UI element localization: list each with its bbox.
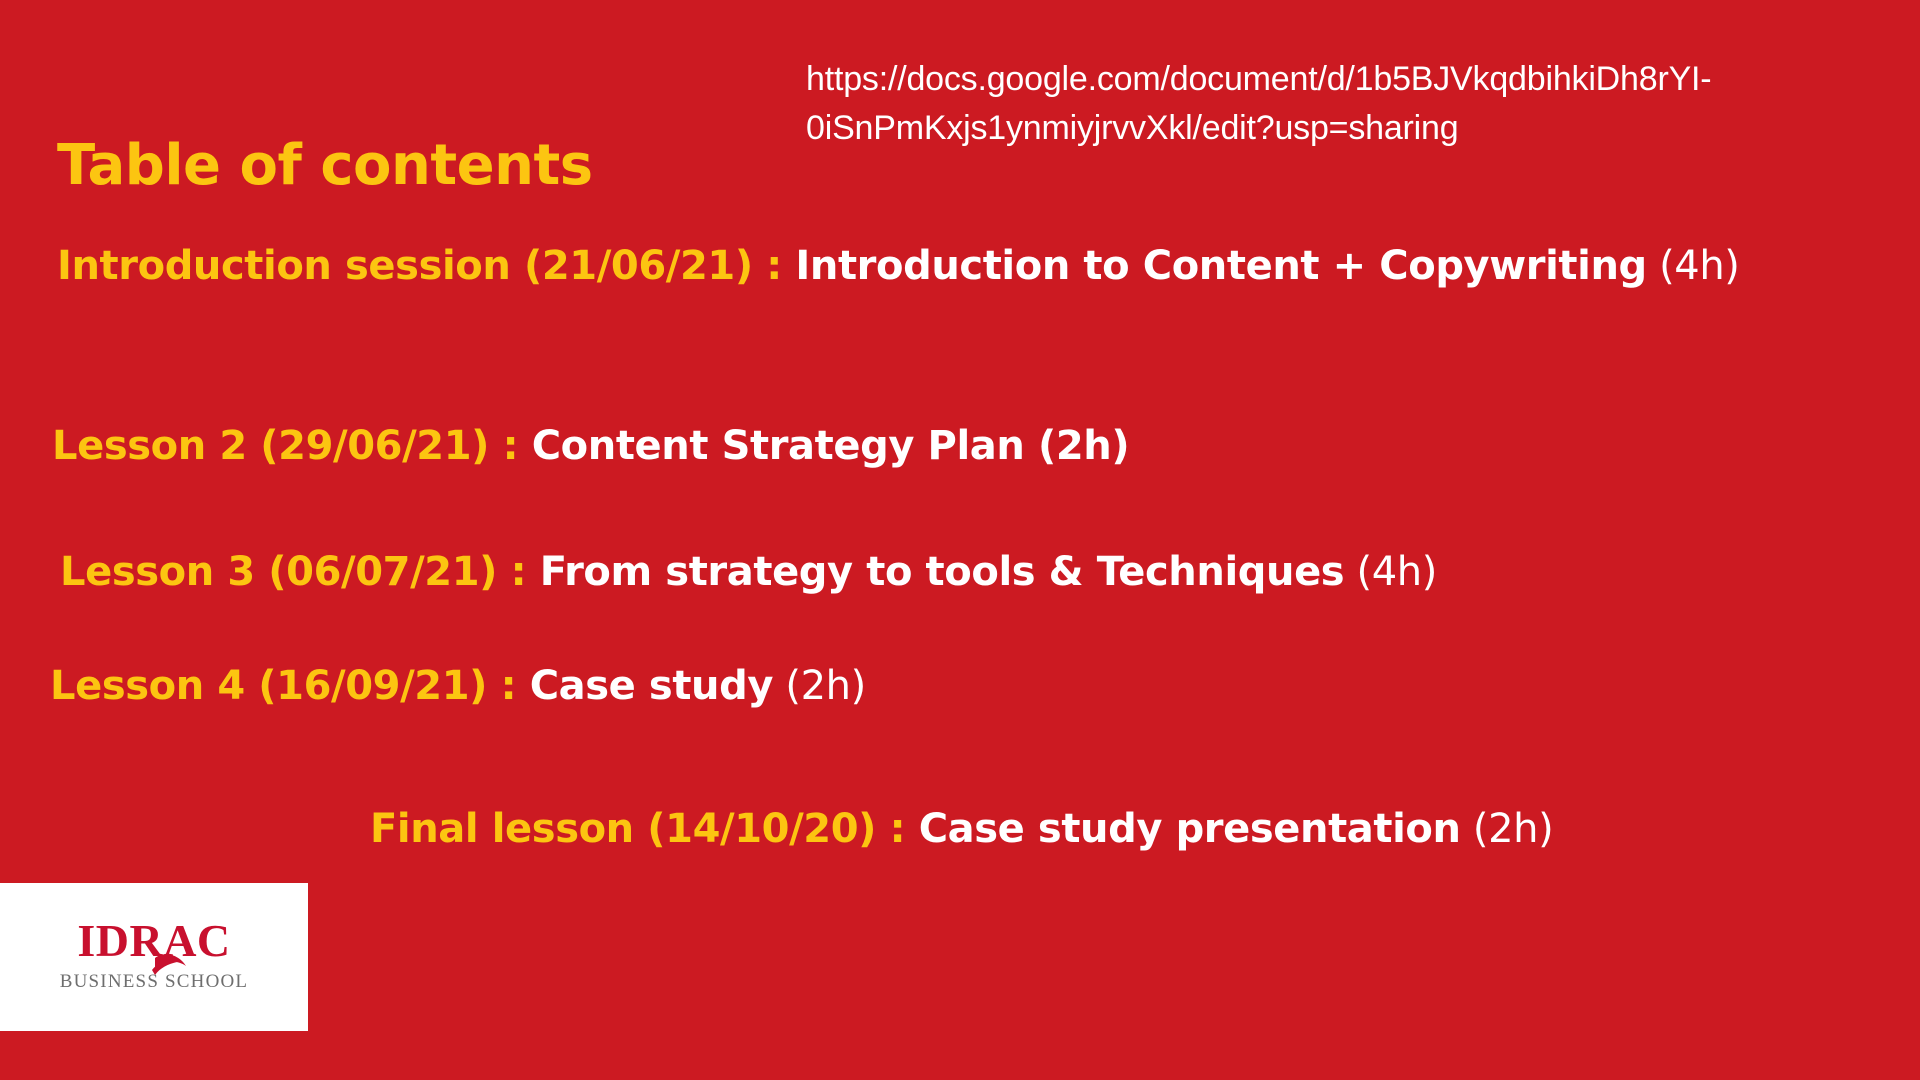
toc-item-title: Case study presentation xyxy=(919,806,1461,852)
toc-separator: : xyxy=(876,806,919,852)
toc-item-duration: (4h) xyxy=(1647,243,1740,289)
page-title: Table of contents xyxy=(57,131,593,201)
toc-separator: : xyxy=(497,549,540,595)
logo-container: IDRAC BUSINESS SCHOOL xyxy=(0,883,308,1031)
toc-item-duration: (4h) xyxy=(1344,549,1437,595)
svg-text:BUSINESS SCHOOL: BUSINESS SCHOOL xyxy=(60,971,249,992)
toc-item-duration: (2h) xyxy=(1461,806,1554,852)
slide-canvas: https://docs.google.com/document/d/1b5BJ… xyxy=(0,0,1920,1080)
idrac-logo-icon: IDRAC BUSINESS SCHOOL xyxy=(34,912,274,1002)
toc-item-title: Content Strategy Plan (2h) xyxy=(532,423,1130,469)
toc-item-label: Introduction session (21/06/21) xyxy=(57,243,753,289)
toc-item-title: Introduction to Content + Copywriting xyxy=(795,243,1646,289)
toc-item-title: From strategy to tools & Techniques xyxy=(540,549,1345,595)
toc-item-label: Lesson 2 (29/06/21) xyxy=(52,423,489,469)
toc-item-label: Final lesson (14/10/20) xyxy=(370,806,876,852)
toc-separator: : xyxy=(489,423,532,469)
list-item: Lesson 4 (16/09/21) : Case study (2h) xyxy=(50,657,866,716)
google-doc-url[interactable]: https://docs.google.com/document/d/1b5BJ… xyxy=(806,55,1806,153)
list-item: Final lesson (14/10/20) : Case study pre… xyxy=(370,800,1553,859)
toc-item-duration: (2h) xyxy=(773,663,866,709)
toc-separator: : xyxy=(753,243,796,289)
list-item: Lesson 2 (29/06/21) : Content Strategy P… xyxy=(52,417,1129,476)
svg-text:IDRAC: IDRAC xyxy=(77,915,230,966)
toc-item-label: Lesson 3 (06/07/21) xyxy=(60,549,497,595)
list-item: Introduction session (21/06/21) : Introd… xyxy=(57,237,1857,296)
toc-item-title: Case study xyxy=(530,663,773,709)
toc-separator: : xyxy=(487,663,530,709)
toc-item-label: Lesson 4 (16/09/21) xyxy=(50,663,487,709)
list-item: Lesson 3 (06/07/21) : From strategy to t… xyxy=(60,543,1437,602)
